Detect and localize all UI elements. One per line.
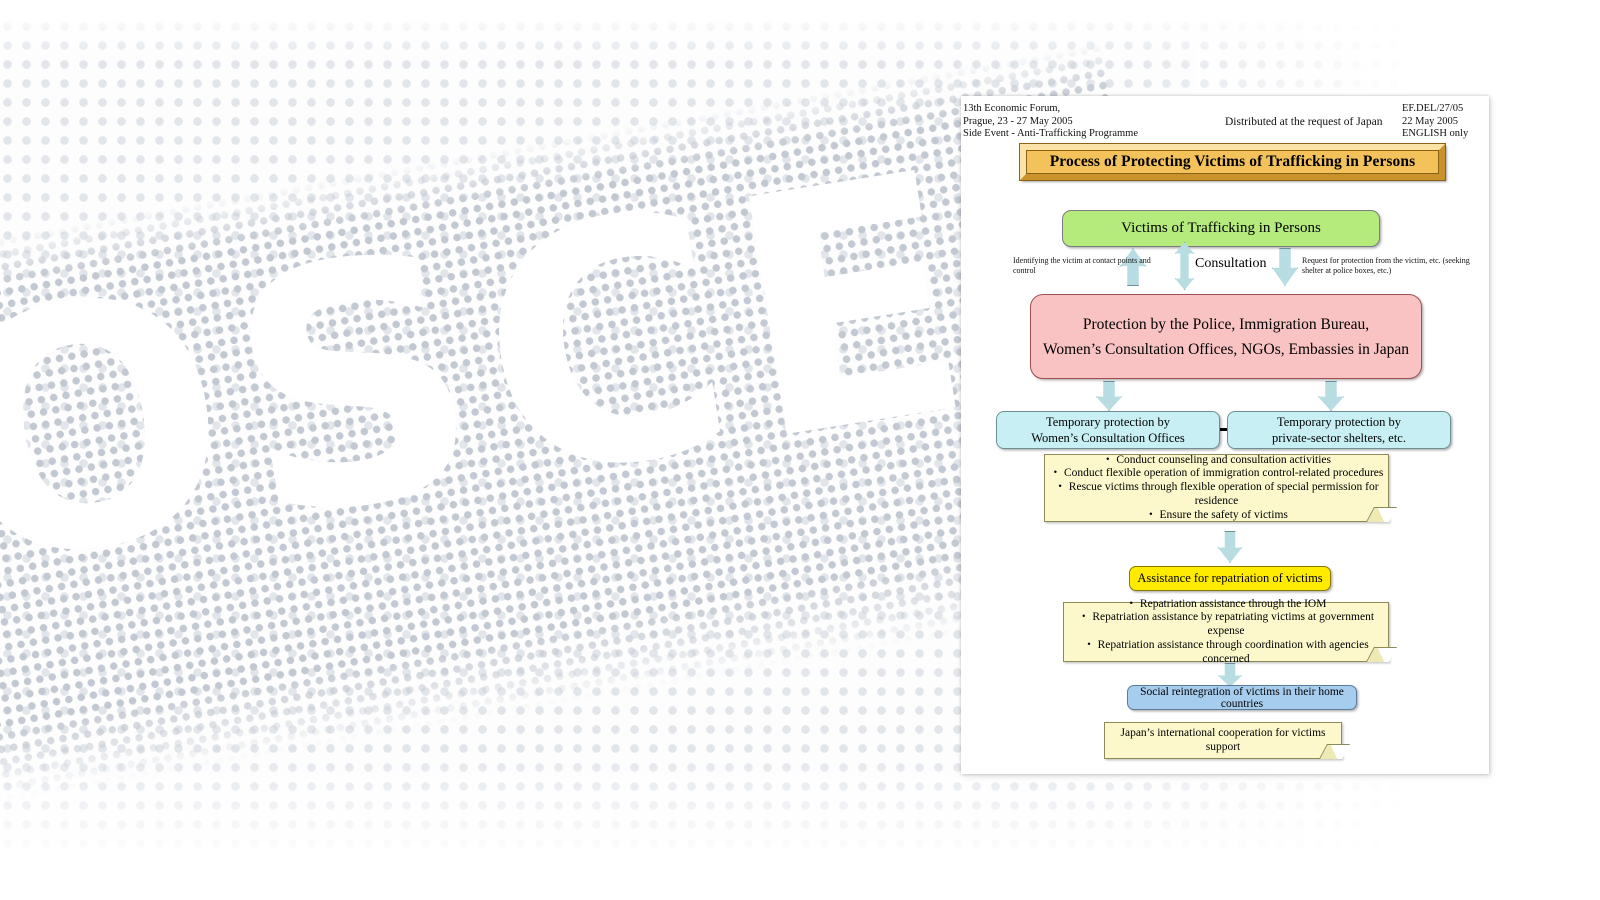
protection-line-2: Women’s Consultation Offices, NGOs, Emba…	[1043, 337, 1409, 362]
temp-left-line-2: Women’s Consultation Offices	[1031, 430, 1185, 446]
header-line-place-date: Prague, 23 - 27 May 2005	[963, 116, 1138, 129]
header-doc-symbol: EF.DEL/27/05	[1402, 103, 1468, 116]
header-right-block: EF.DEL/27/05 22 May 2005 ENGLISH only	[1402, 103, 1468, 141]
measures-bullet-4: ・ Ensure the safety of victims	[1045, 509, 1388, 523]
temp-right-line-2: private-sector shelters, etc.	[1272, 430, 1406, 446]
victims-box: Victims of Trafficking in Persons	[1062, 210, 1380, 247]
caption-request-for-protection: Request for protection from the victim, …	[1302, 256, 1477, 276]
protection-box: Protection by the Police, Immigration Bu…	[1030, 294, 1422, 379]
arrow-down-to-womens-offices-icon	[1096, 381, 1122, 411]
temp-protection-womens-offices-box: Temporary protection by Women’s Consulta…	[996, 411, 1220, 449]
diagram-title-box: Process of Protecting Victims of Traffic…	[1020, 144, 1445, 180]
header-doc-language: ENGLISH only	[1402, 128, 1468, 141]
temp-protection-private-shelters-box: Temporary protection by private-sector s…	[1227, 411, 1451, 449]
temp-left-line-1: Temporary protection by	[1031, 414, 1185, 430]
repatriation-bullet-2: ・ Repatriation assistance by repatriatin…	[1064, 611, 1388, 639]
international-cooperation-note-box: Japan’s international cooperation for vi…	[1104, 722, 1342, 759]
arrow-down-to-repatriation-icon	[1218, 531, 1242, 563]
protection-box-text: Protection by the Police, Immigration Bu…	[1043, 312, 1409, 362]
header-left-block: 13th Economic Forum, Prague, 23 - 27 May…	[963, 103, 1138, 141]
repatriation-bullet-1: ・ Repatriation assistance through the IO…	[1064, 598, 1388, 612]
measures-bullet-3: ・ Rescue victims through flexible operat…	[1045, 481, 1388, 509]
arrow-down-to-private-shelters-icon	[1318, 381, 1344, 411]
header-line-side-event: Side Event - Anti-Trafficking Programme	[963, 128, 1138, 141]
arrow-double-consultation-icon	[1175, 242, 1194, 290]
header-doc-date: 22 May 2005	[1402, 116, 1468, 129]
temp-right-line-1: Temporary protection by	[1272, 414, 1406, 430]
measures-note-box: ・ Conduct counseling and consultation ac…	[1044, 454, 1389, 522]
caption-identifying-victim: Identifying the victim at contact points…	[1013, 256, 1163, 276]
measures-bullet-2: ・ Conduct flexible operation of immigrat…	[1045, 467, 1388, 481]
header-line-forum: 13th Economic Forum,	[963, 103, 1138, 116]
repatriation-assistance-bar: Assistance for repatriation of victims	[1129, 566, 1331, 591]
temp-right-text: Temporary protection by private-sector s…	[1272, 414, 1406, 446]
social-reintegration-bar: Social reintegration of victims in their…	[1127, 685, 1357, 710]
arrow-down-right-icon	[1272, 248, 1298, 286]
repatriation-bullet-3: ・ Repatriation assistance through coordi…	[1064, 639, 1388, 667]
protection-line-1: Protection by the Police, Immigration Bu…	[1043, 312, 1409, 337]
repatriation-note-box: ・ Repatriation assistance through the IO…	[1063, 602, 1389, 662]
temp-left-text: Temporary protection by Women’s Consulta…	[1031, 414, 1185, 446]
label-consultation: Consultation	[1195, 256, 1267, 272]
diagram-title-text: Process of Protecting Victims of Traffic…	[1027, 151, 1438, 173]
measures-bullet-1: ・ Conduct counseling and consultation ac…	[1045, 454, 1388, 468]
arrow-down-to-reintegration-icon	[1218, 663, 1242, 687]
document-page: 13th Economic Forum, Prague, 23 - 27 May…	[961, 96, 1489, 774]
header-distribution-note: Distributed at the request of Japan	[1225, 116, 1382, 129]
cooperation-note-text: Japan’s international cooperation for vi…	[1105, 727, 1341, 755]
